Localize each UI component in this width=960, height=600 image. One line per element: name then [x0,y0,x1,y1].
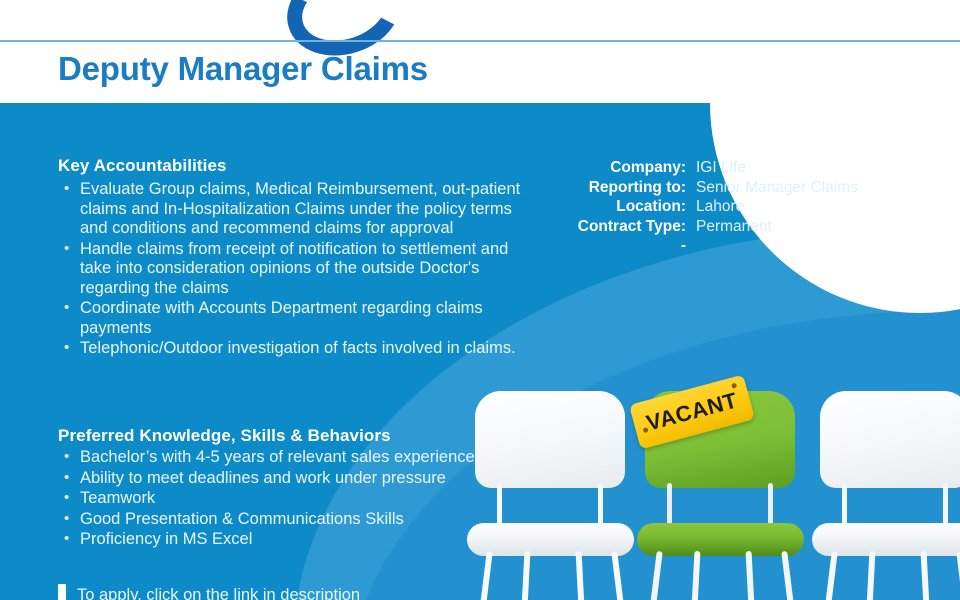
accountabilities-list: Evaluate Group claims, Medical Reimburse… [58,180,536,360]
list-item: Proficiency in MS Excel [58,530,528,550]
bar-marker-icon [58,584,66,600]
section-heading-accountabilities: Key Accountabilities [58,156,227,176]
section-heading-preferred: Preferred Knowledge, Skills & Behaviors [58,426,391,446]
detail-value-extra [696,236,858,256]
list-item: Teamwork [58,489,528,509]
detail-value-contract-type: Permanent [696,217,858,237]
detail-label-extra: - [556,236,686,256]
detail-label-company: Company: [556,158,686,178]
detail-label-location: Location: [556,197,686,217]
detail-value-location: Lahore [696,197,858,217]
detail-value-company: IGI Life [696,158,858,178]
detail-label-reporting-to: Reporting to: [556,178,686,198]
apply-note-text: To apply, click on the link in descripti… [77,586,360,600]
list-item: Good Presentation & Communications Skill… [58,510,528,530]
job-details-table: Company: IGI Life Reporting to: Senior M… [556,158,858,256]
list-item: Handle claims from receipt of notificati… [58,240,536,299]
list-item: Bachelor’s with 4-5 years of relevant sa… [58,448,528,468]
detail-label-contract-type: Contract Type: [556,217,686,237]
job-posting-slide: Deputy Manager Claims [0,0,960,600]
preferred-list: Bachelor’s with 4-5 years of relevant sa… [58,448,528,551]
detail-value-reporting-to: Senior Manager Claims [696,178,858,198]
list-item: Coordinate with Accounts Department rega… [58,299,536,338]
list-item: Telephonic/Outdoor investigation of fact… [58,339,536,359]
list-item: Evaluate Group claims, Medical Reimburse… [58,180,536,239]
content-layer: Key Accountabilities Evaluate Group clai… [0,0,960,600]
list-item: Ability to meet deadlines and work under… [58,469,528,489]
apply-note: To apply, click on the link in descripti… [58,584,360,600]
